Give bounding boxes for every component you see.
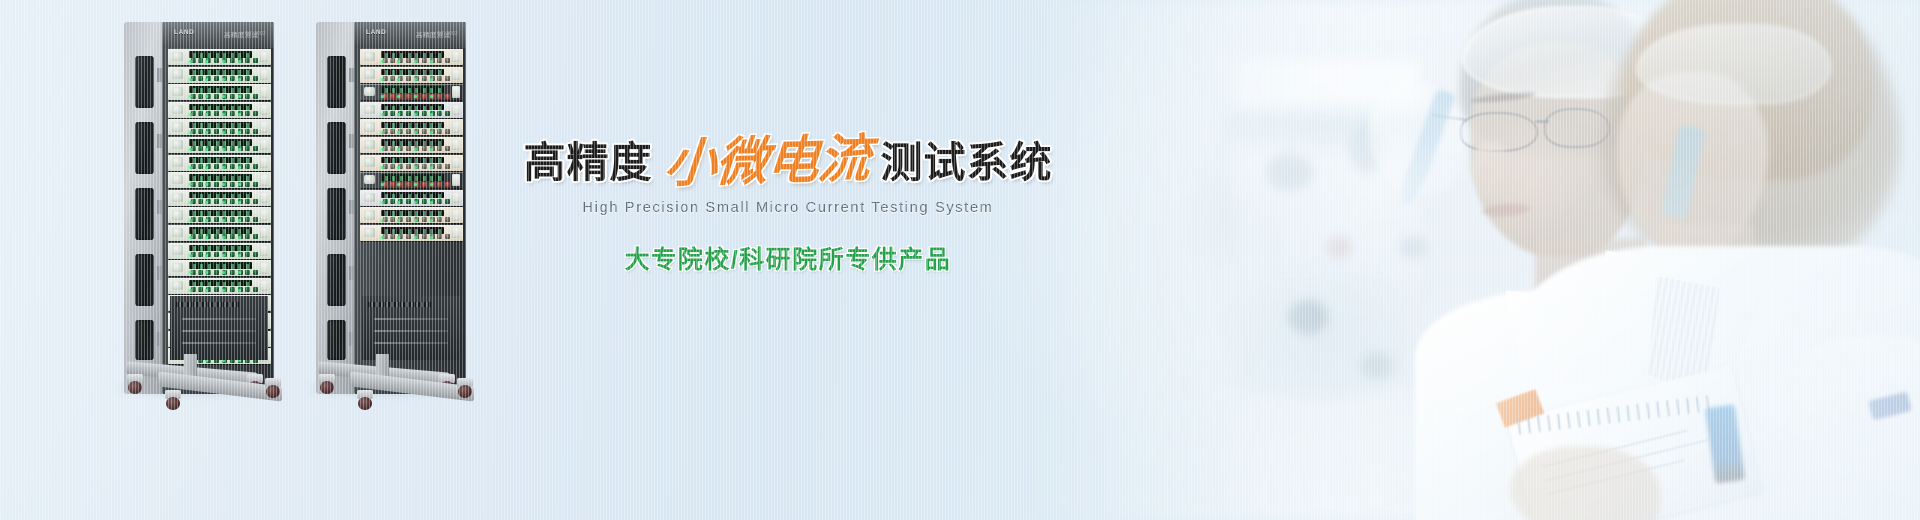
unit-knob[interactable]	[364, 210, 375, 219]
unit-button[interactable]	[198, 129, 203, 134]
unit-led	[238, 166, 241, 169]
unit-button[interactable]	[198, 164, 203, 169]
rack-instrument-unit[interactable]	[168, 102, 271, 118]
unit-led	[222, 148, 225, 151]
rack-instrument-unit[interactable]	[168, 190, 271, 206]
rack-lower-vent	[362, 296, 460, 360]
unit-button[interactable]	[253, 129, 258, 134]
unit-display-segment	[415, 176, 418, 181]
unit-side-control[interactable]	[452, 104, 460, 116]
unit-knob[interactable]	[364, 87, 375, 96]
unit-button[interactable]	[230, 129, 235, 134]
unit-button[interactable]	[445, 164, 450, 169]
unit-display	[381, 174, 445, 180]
unit-button[interactable]	[445, 146, 450, 151]
unit-button[interactable]	[198, 270, 203, 275]
unit-button[interactable]	[390, 182, 395, 187]
unit-button[interactable]	[214, 217, 219, 222]
unit-display-segment	[400, 123, 403, 128]
unit-button[interactable]	[253, 111, 258, 116]
unit-button[interactable]	[445, 58, 450, 63]
unit-knob[interactable]	[172, 87, 183, 96]
unit-knob[interactable]	[172, 263, 183, 272]
rack-instrument-unit[interactable]	[360, 67, 463, 83]
unit-side-control[interactable]	[260, 262, 268, 274]
unit-knob[interactable]	[364, 52, 375, 61]
unit-button[interactable]	[230, 111, 235, 116]
unit-side-control[interactable]	[452, 69, 460, 81]
unit-button[interactable]	[406, 146, 411, 151]
unit-side-control[interactable]	[452, 192, 460, 204]
unit-led	[397, 78, 400, 81]
unit-side-control[interactable]	[260, 51, 268, 63]
unit-side-control[interactable]	[260, 209, 268, 221]
rack-instrument-unit[interactable]	[168, 260, 271, 276]
unit-button[interactable]	[198, 217, 203, 222]
rack-green-base	[158, 352, 290, 412]
unit-button[interactable]	[445, 217, 450, 222]
unit-side-control[interactable]	[260, 69, 268, 81]
unit-knob[interactable]	[172, 122, 183, 131]
unit-led	[414, 201, 417, 204]
unit-side-control[interactable]	[260, 192, 268, 204]
unit-led	[381, 78, 384, 81]
unit-display-segment	[430, 211, 433, 216]
unit-button[interactable]	[214, 287, 219, 292]
unit-button[interactable]	[390, 129, 395, 134]
unit-led	[189, 201, 192, 204]
unit-led	[381, 148, 384, 151]
unit-side-control[interactable]	[260, 280, 268, 292]
unit-display-segment	[423, 176, 426, 181]
unit-display-segment	[423, 88, 426, 93]
unit-display-segment	[200, 176, 203, 181]
unit-button[interactable]	[214, 199, 219, 204]
unit-button[interactable]	[406, 182, 411, 187]
unit-button[interactable]	[253, 217, 258, 222]
unit-led	[430, 78, 433, 81]
unit-button[interactable]	[245, 252, 250, 257]
rack-body: LAND 高精度测试 CT-3002	[354, 22, 466, 394]
unit-button[interactable]	[198, 252, 203, 257]
unit-button[interactable]	[422, 146, 427, 151]
unit-button[interactable]	[406, 199, 411, 204]
unit-button[interactable]	[253, 287, 258, 292]
unit-display-segment	[392, 88, 395, 93]
unit-button[interactable]	[253, 76, 258, 81]
unit-button[interactable]	[445, 76, 450, 81]
headline-part-3: 测试系统	[881, 142, 1053, 184]
unit-button[interactable]	[245, 111, 250, 116]
unit-button[interactable]	[422, 76, 427, 81]
unit-button[interactable]	[445, 94, 450, 99]
unit-button[interactable]	[406, 76, 411, 81]
unit-display-segment	[208, 211, 211, 216]
subtitle-english: High Precision Small Micro Current Testi…	[528, 200, 1048, 216]
unit-knob[interactable]	[364, 140, 375, 149]
unit-button[interactable]	[245, 199, 250, 204]
unit-button[interactable]	[198, 199, 203, 204]
rack-instrument-unit[interactable]	[360, 49, 463, 65]
unit-display-segment	[385, 211, 388, 216]
rack-instrument-unit[interactable]	[168, 84, 271, 100]
unit-led	[414, 131, 417, 134]
unit-button[interactable]	[253, 234, 258, 239]
rack-vent-slots	[368, 302, 431, 307]
unit-button[interactable]	[230, 270, 235, 275]
unit-button[interactable]	[445, 234, 450, 239]
headline: 高精度 小微电流 测试系统	[528, 132, 1048, 184]
unit-button[interactable]	[245, 287, 250, 292]
unit-led	[414, 148, 417, 151]
unit-led	[205, 166, 208, 169]
unit-button[interactable]	[422, 94, 427, 99]
unit-button[interactable]	[214, 111, 219, 116]
rack-instrument-unit[interactable]	[168, 67, 271, 83]
rack-caster	[262, 378, 284, 398]
rack-instrument-unit[interactable]	[360, 137, 463, 153]
unit-button[interactable]	[406, 94, 411, 99]
unit-button[interactable]	[390, 164, 395, 169]
unit-button[interactable]	[245, 164, 250, 169]
rack-side-panel	[124, 22, 166, 394]
rack-instrument-unit[interactable]	[360, 172, 463, 188]
unit-button[interactable]	[445, 199, 450, 204]
unit-button[interactable]	[406, 129, 411, 134]
unit-display-segment	[438, 211, 441, 216]
product-banner: LAND 高精度测试 CT-3002	[0, 0, 1920, 520]
unit-display-segment	[238, 211, 241, 216]
unit-display-segment	[246, 176, 249, 181]
unit-display-segment	[231, 264, 234, 269]
unit-button[interactable]	[390, 111, 395, 116]
unit-display-segment	[208, 88, 211, 93]
unit-button[interactable]	[214, 234, 219, 239]
unit-side-control[interactable]	[260, 121, 268, 133]
unit-side-control[interactable]	[260, 157, 268, 169]
unit-led	[205, 131, 208, 134]
unit-button[interactable]	[214, 182, 219, 187]
unit-button[interactable]	[230, 217, 235, 222]
unit-side-control[interactable]	[452, 121, 460, 133]
unit-button[interactable]	[245, 270, 250, 275]
unit-button[interactable]	[437, 129, 442, 134]
unit-knob[interactable]	[364, 157, 375, 166]
unit-button[interactable]	[230, 164, 235, 169]
unit-knob[interactable]	[172, 157, 183, 166]
unit-button[interactable]	[198, 146, 203, 151]
rack-side-slot	[135, 320, 154, 360]
unit-button[interactable]	[230, 76, 235, 81]
unit-button[interactable]	[390, 234, 395, 239]
unit-button[interactable]	[437, 164, 442, 169]
unit-button[interactable]	[214, 146, 219, 151]
unit-knob[interactable]	[172, 140, 183, 149]
rack-instrument-unit[interactable]	[168, 172, 271, 188]
unit-display	[381, 139, 445, 145]
unit-knob[interactable]	[172, 175, 183, 184]
unit-display-segment	[223, 176, 226, 181]
rack-instrument-unit[interactable]	[360, 119, 463, 135]
unit-button[interactable]	[445, 182, 450, 187]
rack-instrument-unit[interactable]	[360, 84, 463, 100]
unit-button[interactable]	[245, 217, 250, 222]
unit-display-segment	[223, 211, 226, 216]
rack-instrument-unit[interactable]	[360, 225, 463, 241]
unit-side-control[interactable]	[452, 157, 460, 169]
unit-display	[381, 86, 445, 92]
unit-button[interactable]	[214, 270, 219, 275]
unit-display-segment	[423, 123, 426, 128]
unit-button[interactable]	[422, 129, 427, 134]
unit-button[interactable]	[245, 94, 250, 99]
unit-side-control[interactable]	[260, 86, 268, 98]
unit-button[interactable]	[422, 164, 427, 169]
rack-side-panel	[316, 22, 358, 394]
unit-button[interactable]	[390, 217, 395, 222]
unit-button[interactable]	[437, 58, 442, 63]
unit-knob[interactable]	[172, 69, 183, 78]
rack-instrument-unit[interactable]	[168, 137, 271, 153]
unit-button[interactable]	[245, 58, 250, 63]
unit-led	[189, 254, 192, 257]
unit-button[interactable]	[253, 58, 258, 63]
unit-button[interactable]	[445, 111, 450, 116]
unit-button[interactable]	[437, 234, 442, 239]
unit-display-segment	[438, 123, 441, 128]
unit-button[interactable]	[390, 58, 395, 63]
unit-button[interactable]	[390, 199, 395, 204]
unit-led	[414, 78, 417, 81]
unit-knob[interactable]	[364, 122, 375, 131]
unit-knob[interactable]	[172, 245, 183, 254]
unit-button[interactable]	[198, 94, 203, 99]
unit-button[interactable]	[406, 111, 411, 116]
laboratory-photo	[1020, 0, 1920, 520]
unit-button[interactable]	[406, 217, 411, 222]
unit-side-control[interactable]	[452, 227, 460, 239]
unit-display-segment	[193, 211, 196, 216]
unit-button[interactable]	[198, 111, 203, 116]
unit-button[interactable]	[230, 252, 235, 257]
unit-led	[397, 131, 400, 134]
unit-side-control[interactable]	[260, 245, 268, 257]
unit-button[interactable]	[390, 76, 395, 81]
unit-button[interactable]	[406, 234, 411, 239]
unit-button[interactable]	[245, 76, 250, 81]
unit-button[interactable]	[253, 252, 258, 257]
unit-display-segment	[246, 211, 249, 216]
unit-button[interactable]	[198, 182, 203, 187]
unit-display-segment	[208, 123, 211, 128]
unit-button[interactable]	[230, 94, 235, 99]
unit-button[interactable]	[230, 199, 235, 204]
rack-instrument-unit[interactable]	[168, 243, 271, 259]
unit-button[interactable]	[230, 287, 235, 292]
unit-side-control[interactable]	[452, 209, 460, 221]
unit-led	[238, 131, 241, 134]
rack-instrument-unit[interactable]	[360, 102, 463, 118]
unit-button[interactable]	[198, 58, 203, 63]
unit-button[interactable]	[406, 58, 411, 63]
unit-button[interactable]	[422, 199, 427, 204]
unit-display-segment	[438, 176, 441, 181]
unit-knob[interactable]	[364, 105, 375, 114]
unit-side-control[interactable]	[260, 174, 268, 186]
unit-button[interactable]	[437, 111, 442, 116]
unit-display-segment	[408, 176, 411, 181]
unit-button[interactable]	[253, 94, 258, 99]
rack-instrument-unit[interactable]	[360, 190, 463, 206]
unit-display-segment	[193, 88, 196, 93]
unit-display-segment	[438, 88, 441, 93]
unit-button[interactable]	[422, 111, 427, 116]
unit-button[interactable]	[437, 146, 442, 151]
rack-instrument-unit[interactable]	[168, 119, 271, 135]
unit-button[interactable]	[437, 217, 442, 222]
unit-button[interactable]	[230, 182, 235, 187]
unit-led	[222, 131, 225, 134]
unit-knob[interactable]	[364, 228, 375, 237]
unit-button[interactable]	[422, 217, 427, 222]
unit-display-segment	[408, 123, 411, 128]
unit-button[interactable]	[253, 146, 258, 151]
unit-side-control[interactable]	[452, 139, 460, 151]
unit-button[interactable]	[253, 164, 258, 169]
unit-button[interactable]	[245, 146, 250, 151]
unit-button[interactable]	[214, 76, 219, 81]
unit-led	[381, 236, 384, 239]
rack-brand-logo: LAND	[174, 29, 194, 36]
unit-display	[189, 192, 253, 198]
rack-cable	[374, 330, 448, 332]
unit-led	[222, 219, 225, 222]
unit-side-control[interactable]	[260, 104, 268, 116]
unit-button[interactable]	[406, 164, 411, 169]
unit-display-segment	[223, 88, 226, 93]
rack-top-cap: LAND 高精度测试 CT-3002	[162, 22, 274, 48]
unit-led	[430, 131, 433, 134]
unit-knob[interactable]	[172, 281, 183, 290]
unit-side-control[interactable]	[452, 86, 460, 98]
unit-button[interactable]	[253, 199, 258, 204]
rack-instrument-unit[interactable]	[168, 49, 271, 65]
unit-side-control[interactable]	[260, 227, 268, 239]
unit-led	[238, 78, 241, 81]
rack-instrument-unit[interactable]	[360, 207, 463, 223]
unit-led	[430, 219, 433, 222]
unit-button[interactable]	[214, 252, 219, 257]
unit-button[interactable]	[214, 129, 219, 134]
rack-caster	[454, 378, 476, 398]
unit-led	[205, 78, 208, 81]
rack-side-slot	[327, 254, 346, 306]
unit-knob[interactable]	[172, 105, 183, 114]
unit-button[interactable]	[437, 94, 442, 99]
unit-knob[interactable]	[364, 193, 375, 202]
unit-button[interactable]	[437, 182, 442, 187]
unit-display	[189, 227, 253, 233]
unit-button[interactable]	[198, 76, 203, 81]
unit-display-segment	[216, 176, 219, 181]
unit-display-segment	[246, 264, 249, 269]
rack-instrument-unit[interactable]	[360, 155, 463, 171]
rack-side-slot	[135, 122, 154, 174]
rack-top-cap: LAND 高精度测试 CT-3002	[354, 22, 466, 48]
unit-side-control[interactable]	[260, 139, 268, 151]
unit-button[interactable]	[198, 287, 203, 292]
rack-caster	[162, 390, 184, 410]
unit-led	[222, 78, 225, 81]
unit-button[interactable]	[437, 76, 442, 81]
unit-button[interactable]	[253, 182, 258, 187]
unit-button[interactable]	[214, 94, 219, 99]
unit-knob[interactable]	[172, 210, 183, 219]
unit-button[interactable]	[245, 234, 250, 239]
unit-knob[interactable]	[172, 193, 183, 202]
unit-display-segment	[200, 88, 203, 93]
unit-button[interactable]	[198, 234, 203, 239]
unit-button[interactable]	[230, 58, 235, 63]
unit-button[interactable]	[214, 164, 219, 169]
unit-led	[189, 131, 192, 134]
rack-side-slot	[135, 188, 154, 240]
unit-led	[189, 78, 192, 81]
rack-instrument-unit[interactable]	[168, 225, 271, 241]
unit-button[interactable]	[245, 129, 250, 134]
unit-button[interactable]	[437, 199, 442, 204]
rack-body: LAND 高精度测试 CT-3002	[162, 22, 274, 394]
unit-knob[interactable]	[364, 69, 375, 78]
unit-display-segment	[430, 123, 433, 128]
unit-led	[381, 60, 384, 63]
rack-instrument-unit[interactable]	[168, 278, 271, 294]
unit-button[interactable]	[422, 234, 427, 239]
unit-knob[interactable]	[172, 52, 183, 61]
unit-display	[381, 122, 445, 128]
unit-display-segment	[231, 123, 234, 128]
unit-button[interactable]	[230, 146, 235, 151]
rack-side-slot	[327, 56, 346, 108]
unit-led	[222, 289, 225, 292]
unit-button[interactable]	[390, 146, 395, 151]
unit-knob[interactable]	[364, 175, 375, 184]
rack-side-slot	[135, 56, 154, 108]
rack-instrument-unit[interactable]	[168, 207, 271, 223]
unit-display-segment	[216, 211, 219, 216]
unit-side-control[interactable]	[452, 174, 460, 186]
unit-display-segment	[238, 123, 241, 128]
unit-display-segment	[200, 123, 203, 128]
unit-button[interactable]	[253, 270, 258, 275]
unit-button[interactable]	[422, 58, 427, 63]
unit-led	[414, 166, 417, 169]
unit-button[interactable]	[445, 129, 450, 134]
unit-button[interactable]	[230, 234, 235, 239]
unit-display	[381, 104, 445, 110]
unit-display-segment	[208, 176, 211, 181]
rack-side-slot	[327, 320, 346, 360]
unit-button[interactable]	[214, 58, 219, 63]
unit-side-control[interactable]	[452, 51, 460, 63]
unit-button[interactable]	[245, 182, 250, 187]
unit-button[interactable]	[422, 182, 427, 187]
unit-display	[381, 210, 445, 216]
rack-model-code: CT-3002	[245, 31, 266, 37]
unit-knob[interactable]	[172, 228, 183, 237]
unit-button[interactable]	[390, 94, 395, 99]
rack-instrument-unit[interactable]	[168, 155, 271, 171]
